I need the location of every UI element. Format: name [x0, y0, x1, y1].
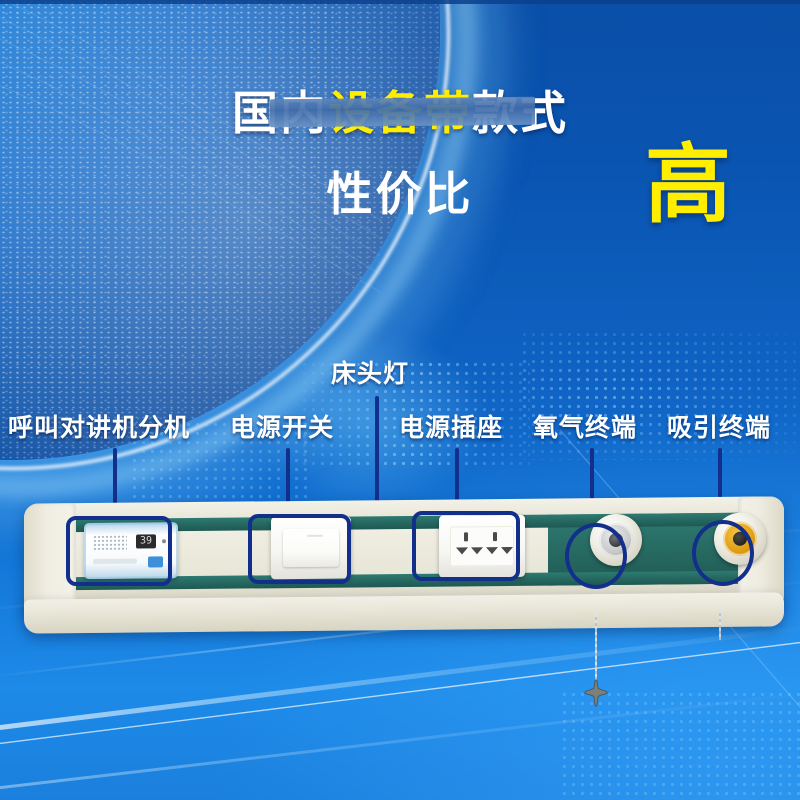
- poster-canvas: 国内设备带款式 性价比 高 呼叫对讲机分机 电源开关 床头灯 电源插座 氧气终端…: [0, 0, 800, 800]
- callout-label-switch: 电源开关: [230, 414, 334, 442]
- callout-circle-oxygen: [565, 523, 627, 589]
- bar-blue-reflection-strip: [270, 97, 535, 128]
- pull-cord-handle-icon: [582, 679, 610, 707]
- top-edge-bar: [0, 0, 800, 4]
- callout-label-oxygen: 氧气终端: [533, 414, 637, 442]
- suction-pull-cord: [595, 614, 597, 686]
- callout-label-bed-lamp: 床头灯: [331, 360, 409, 388]
- callout-circle-suction: [692, 520, 754, 586]
- callout-box-intercom: [66, 516, 172, 586]
- mesh-lines: [0, 0, 380, 300]
- callout-label-suction: 吸引终端: [667, 414, 771, 442]
- callout-label-intercom: 呼叫对讲机分机: [8, 414, 190, 442]
- callout-label-socket: 电源插座: [399, 414, 503, 442]
- callout-box-socket: [412, 511, 520, 581]
- bar-lower-lip: [24, 592, 784, 633]
- callout-box-switch: [248, 514, 351, 584]
- secondary-pull-cord: [719, 610, 721, 640]
- headline-emphasis: 高: [645, 142, 731, 228]
